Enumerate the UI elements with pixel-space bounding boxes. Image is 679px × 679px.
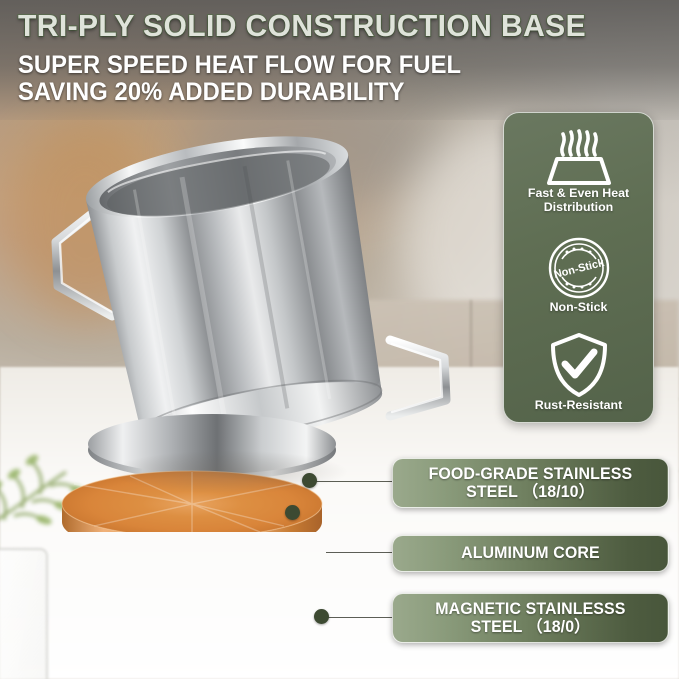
feature-label-1: Fast & Even Heat Distribution [504, 187, 653, 214]
callout-1-line-2: STEEL （18/10） [466, 483, 595, 501]
callout-food-grade-stainless-steel: FOOD-GRADE STAINLESS STEEL （18/10） [392, 458, 669, 508]
infographic-canvas: TRI-PLY SOLID CONSTRUCTION BASE SUPER SP… [0, 0, 679, 679]
callout-3-line-1: MAGNETIC STAINLESSS [435, 600, 625, 618]
subtitle-line-1: SUPER SPEED HEAT FLOW FOR FUEL [18, 52, 512, 79]
subtitle-line-2: SAVING 20% ADDED DURABILITY [18, 79, 512, 106]
seal-text: Non-Stick [552, 257, 606, 281]
callout-3-line-2: STEEL （18/0） [471, 618, 591, 636]
feature-label-2: Non-Stick [504, 301, 653, 315]
shield-check-icon [548, 331, 610, 399]
feature-rust-resistant: Rust-Resistant [504, 331, 653, 413]
callout-magnetic-stainless-steel: MAGNETIC STAINLESSS STEEL （18/0） [392, 593, 669, 643]
product-shadow [64, 442, 394, 502]
connector-line-3 [321, 617, 393, 618]
feature-fast-even-heat: Fast & Even Heat Distribution [504, 125, 653, 214]
page-subtitle: SUPER SPEED HEAT FLOW FOR FUEL SAVING 20… [18, 52, 512, 105]
connector-line-1 [309, 481, 393, 482]
non-stick-seal-icon: Non-Stick [546, 235, 612, 301]
page-title: TRI-PLY SOLID CONSTRUCTION BASE [18, 9, 658, 43]
connector-dot-2 [285, 505, 300, 520]
connector-dot-1 [302, 473, 317, 488]
background-glass-jar [0, 548, 48, 679]
callout-aluminum-core: ALUMINUM CORE [392, 535, 669, 572]
feature-benefits-panel: Fast & Even Heat Distribution Non-Stick [503, 112, 654, 423]
connector-line-2 [326, 552, 393, 553]
callout-2-line-1: ALUMINUM CORE [461, 544, 600, 562]
feature-label-3: Rust-Resistant [504, 399, 653, 413]
feature-non-stick: Non-Stick Non-Stick [504, 235, 653, 315]
connector-dot-3 [314, 609, 329, 624]
heat-waves-icon [545, 125, 613, 187]
callout-1-line-1: FOOD-GRADE STAINLESS [429, 465, 633, 483]
